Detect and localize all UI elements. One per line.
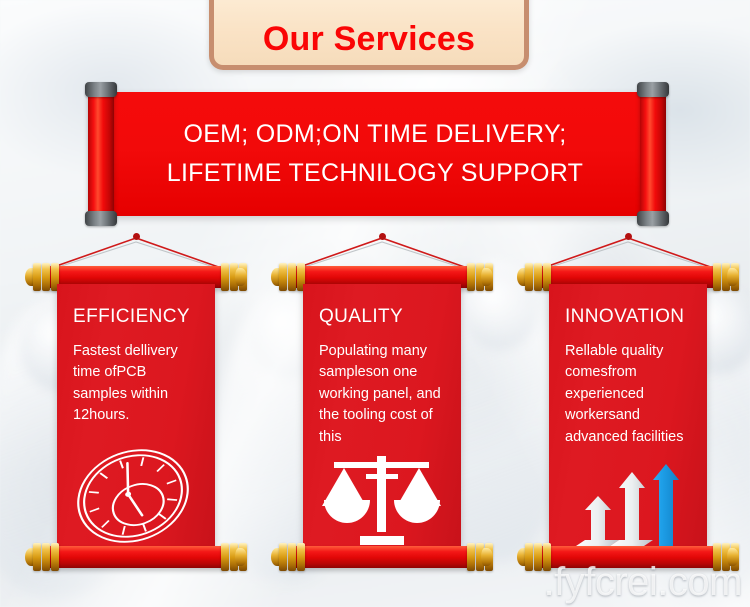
banner-roll-cap <box>637 82 669 97</box>
cord-knob <box>625 233 632 240</box>
rod-finial-left <box>271 260 305 294</box>
services-header-box: Our Services <box>209 0 529 70</box>
rod-finial-right <box>459 540 493 574</box>
rod-finial-right <box>459 260 493 294</box>
scroll-sheet: INNOVATION Rellable quality comesfrom ex… <box>549 284 707 548</box>
panel-title-innovation: INNOVATION <box>565 306 691 328</box>
service-scroll-quality: QUALITY Populating many sampleson one wo… <box>273 236 491 581</box>
panel-body-quality: Populating many sampleson one working pa… <box>319 341 445 448</box>
rod-finial-left <box>517 260 551 294</box>
banner-roll-cap <box>85 211 117 226</box>
scroll-sheet: EFFICIENCY Fastest dellivery time ofPCB … <box>57 284 215 548</box>
scroll-rod-bottom <box>45 546 227 568</box>
banner-roll-cap <box>85 82 117 97</box>
page-title: Our Services <box>263 22 475 56</box>
rod-finial-right <box>705 540 739 574</box>
rod-finial-left <box>25 540 59 574</box>
rod-finial-right <box>705 260 739 294</box>
poster-canvas: Our Services OEM; ODM;ON TIME DELIVERY; … <box>0 0 750 607</box>
scroll-sheet: QUALITY Populating many sampleson one wo… <box>303 284 461 548</box>
rod-finial-right <box>213 540 247 574</box>
cord-knob <box>379 233 386 240</box>
hanging-cord-icon <box>289 236 475 270</box>
scroll-rod-bottom <box>291 546 473 568</box>
growth-bar-chart-icon <box>549 436 707 548</box>
service-scroll-efficiency: EFFICIENCY Fastest dellivery time ofPCB … <box>27 236 245 581</box>
headline-banner: OEM; ODM;ON TIME DELIVERY; LIFETIME TECH… <box>96 92 654 216</box>
headline-line-2: LIFETIME TECHNILOGY SUPPORT <box>167 159 584 188</box>
scroll-rod-bottom <box>537 546 719 568</box>
panel-body-innovation: Rellable quality comesfrom experienced w… <box>565 341 691 448</box>
rod-finial-left <box>271 540 305 574</box>
balance-scales-icon <box>303 436 461 548</box>
banner-roll-cap <box>637 211 669 226</box>
headline-line-1: OEM; ODM;ON TIME DELIVERY; <box>183 120 566 149</box>
rod-finial-right <box>213 260 247 294</box>
panel-title-efficiency: EFFICIENCY <box>73 306 199 328</box>
hanging-cord-icon <box>535 236 721 270</box>
rod-finial-left <box>25 260 59 294</box>
banner-roll-right <box>640 88 666 220</box>
hanging-cord-icon <box>43 236 229 270</box>
clock-icon <box>57 436 215 548</box>
service-scroll-innovation: INNOVATION Rellable quality comesfrom ex… <box>519 236 737 581</box>
rod-finial-left <box>517 540 551 574</box>
panel-body-efficiency: Fastest dellivery time ofPCB samples wit… <box>73 341 199 427</box>
cord-knob <box>133 233 140 240</box>
panel-title-quality: QUALITY <box>319 306 445 328</box>
banner-roll-left <box>88 88 114 220</box>
